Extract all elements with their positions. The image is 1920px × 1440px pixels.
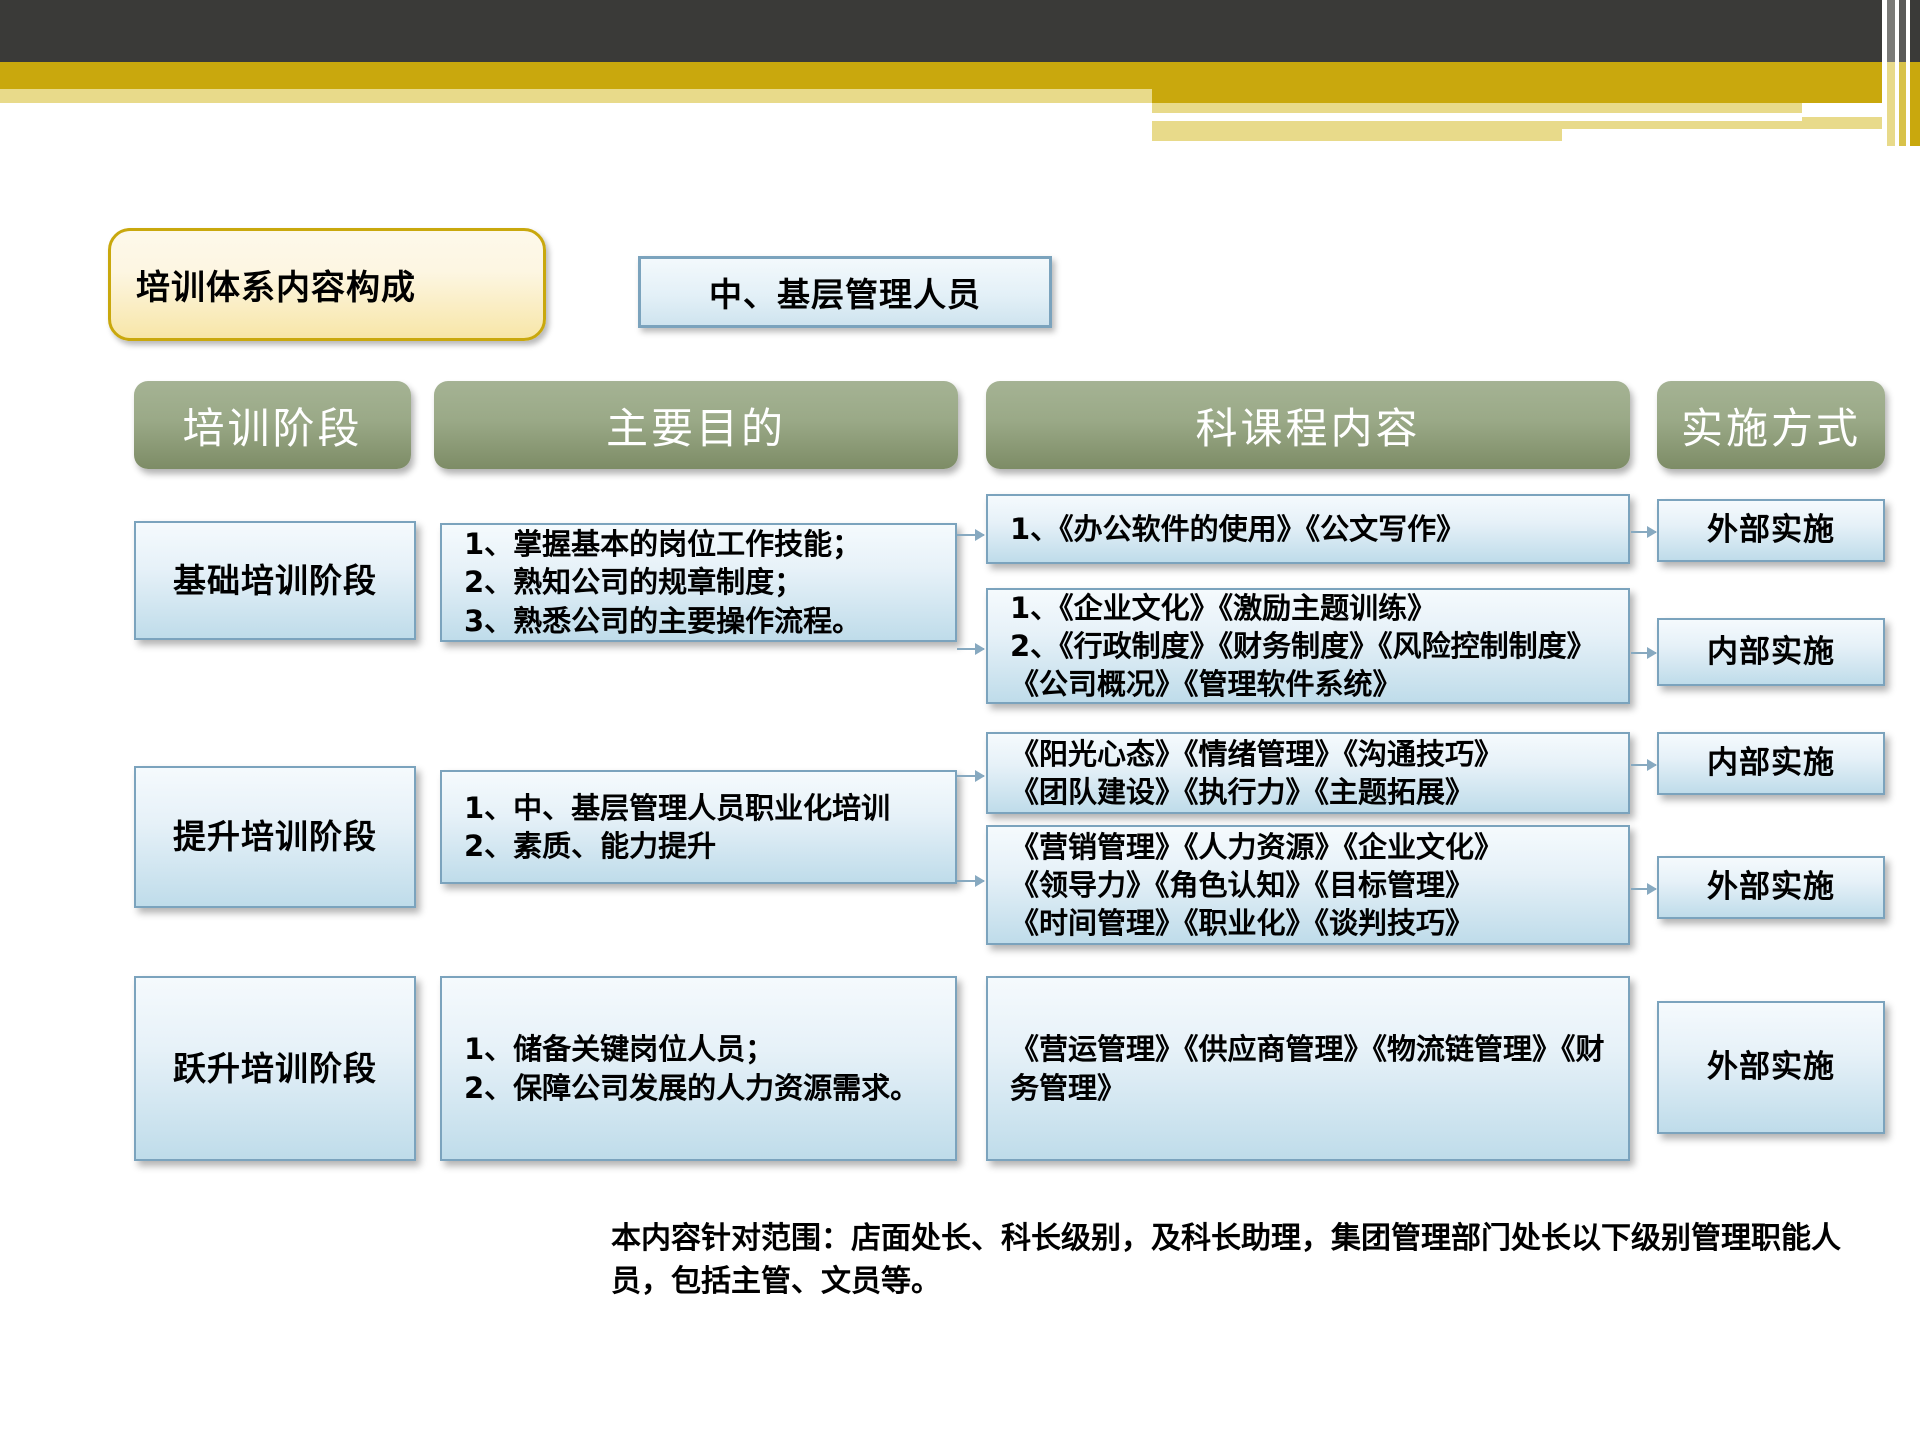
audience-text: 中、基层管理人员 — [709, 268, 981, 316]
method-cell: 外部实施 — [1657, 1001, 1885, 1134]
arrow-icon — [957, 648, 984, 650]
course-cell: 1、《办公软件的使用》《公文写作》 — [986, 494, 1630, 564]
arrow-icon — [1631, 531, 1656, 533]
stage-cell: 提升培训阶段 — [134, 766, 416, 908]
arrow-icon — [1631, 764, 1656, 766]
header-dark-band — [0, 0, 1882, 62]
header-stripe-4 — [1899, 0, 1906, 62]
course-text: 《营运管理》《供应商管理》《物流链管理》《财务管理》 — [1010, 1030, 1618, 1107]
course-cell: 《营销管理》《人力资源》《企业文化》 《领导力》《角色认知》《目标管理》 《时间… — [986, 825, 1630, 945]
column-header-stage: 培训阶段 — [134, 381, 411, 469]
purpose-cell: 1、掌握基本的岗位工作技能； 2、熟知公司的规章制度； 3、熟悉公司的主要操作流… — [440, 523, 957, 642]
column-header-method-label: 实施方式 — [1681, 395, 1861, 456]
slide-title-box: 培训体系内容构成 — [108, 228, 546, 341]
method-label: 内部实施 — [1707, 632, 1835, 673]
column-header-purpose: 主要目的 — [434, 381, 958, 469]
course-text: 1、《办公软件的使用》《公文写作》 — [1010, 510, 1465, 548]
purpose-text: 1、储备关键岗位人员； 2、保障公司发展的人力资源需求。 — [464, 1030, 919, 1107]
course-cell: 《营运管理》《供应商管理》《物流链管理》《财务管理》 — [986, 976, 1630, 1161]
arrow-icon — [957, 534, 984, 536]
column-header-course-label: 科课程内容 — [1195, 395, 1420, 456]
header-stripe-6 — [1910, 0, 1920, 62]
header-gold-band-right — [1152, 62, 1882, 103]
slide-title-text: 培训体系内容构成 — [136, 260, 416, 309]
arrow-icon — [957, 880, 984, 882]
purpose-text: 1、中、基层管理人员职业化培训 2、素质、能力提升 — [464, 789, 890, 866]
course-text: 《营销管理》《人力资源》《企业文化》 《领导力》《角色认知》《目标管理》 《时间… — [1010, 828, 1503, 943]
header-pale-band-left — [0, 89, 1152, 103]
column-header-method: 实施方式 — [1657, 381, 1885, 469]
header-gap-upper — [1152, 113, 1802, 121]
purpose-cell: 1、储备关键岗位人员； 2、保障公司发展的人力资源需求。 — [440, 976, 957, 1161]
method-cell: 内部实施 — [1657, 618, 1885, 686]
course-text: 1、《企业文化》《激励主题训练》 2、《行政制度》《财务制度》《风险控制制度》《… — [1010, 589, 1618, 704]
header-gold-stripe-6 — [1910, 62, 1920, 146]
stage-cell: 跃升培训阶段 — [134, 976, 416, 1161]
course-cell: 1、《企业文化》《激励主题训练》 2、《行政制度》《财务制度》《风险控制制度》《… — [986, 588, 1630, 704]
course-text: 《阳光心态》《情绪管理》《沟通技巧》 《团队建设》《执行力》《主题拓展》 — [1010, 735, 1503, 812]
method-cell: 内部实施 — [1657, 732, 1885, 795]
method-label: 外部实施 — [1707, 510, 1835, 551]
purpose-text: 1、掌握基本的岗位工作技能； 2、熟知公司的规章制度； 3、熟悉公司的主要操作流… — [464, 525, 861, 640]
column-header-course: 科课程内容 — [986, 381, 1630, 469]
header-stripe-2 — [1887, 0, 1895, 62]
arrow-icon — [1631, 888, 1656, 890]
footnote-text: 本内容针对范围：店面处长、科长级别，及科长助理，集团管理部门处长以下级别管理职能… — [611, 1218, 1841, 1303]
method-label: 外部实施 — [1707, 1047, 1835, 1088]
stage-label: 跃升培训阶段 — [173, 1047, 377, 1091]
header-gold-stripe-2 — [1887, 62, 1895, 146]
course-cell: 《阳光心态》《情绪管理》《沟通技巧》 《团队建设》《执行力》《主题拓展》 — [986, 732, 1630, 814]
method-label: 外部实施 — [1707, 867, 1835, 908]
column-header-stage-label: 培训阶段 — [182, 395, 362, 456]
slide-canvas: 培训体系内容构成 中、基层管理人员 培训阶段 主要目的 科课程内容 实施方式 基… — [0, 0, 1920, 1440]
stage-label: 基础培训阶段 — [173, 559, 377, 603]
stage-label: 提升培训阶段 — [173, 815, 377, 859]
method-cell: 外部实施 — [1657, 856, 1885, 919]
method-label: 内部实施 — [1707, 743, 1835, 784]
arrow-icon — [957, 775, 984, 777]
stage-cell: 基础培训阶段 — [134, 521, 416, 640]
header-gap-lower — [1562, 129, 1902, 143]
method-cell: 外部实施 — [1657, 499, 1885, 562]
header-gold-stripe-4 — [1899, 62, 1906, 146]
column-header-purpose-label: 主要目的 — [606, 395, 786, 456]
arrow-icon — [1631, 652, 1656, 654]
audience-box: 中、基层管理人员 — [638, 256, 1052, 328]
purpose-cell: 1、中、基层管理人员职业化培训 2、素质、能力提升 — [440, 770, 957, 884]
